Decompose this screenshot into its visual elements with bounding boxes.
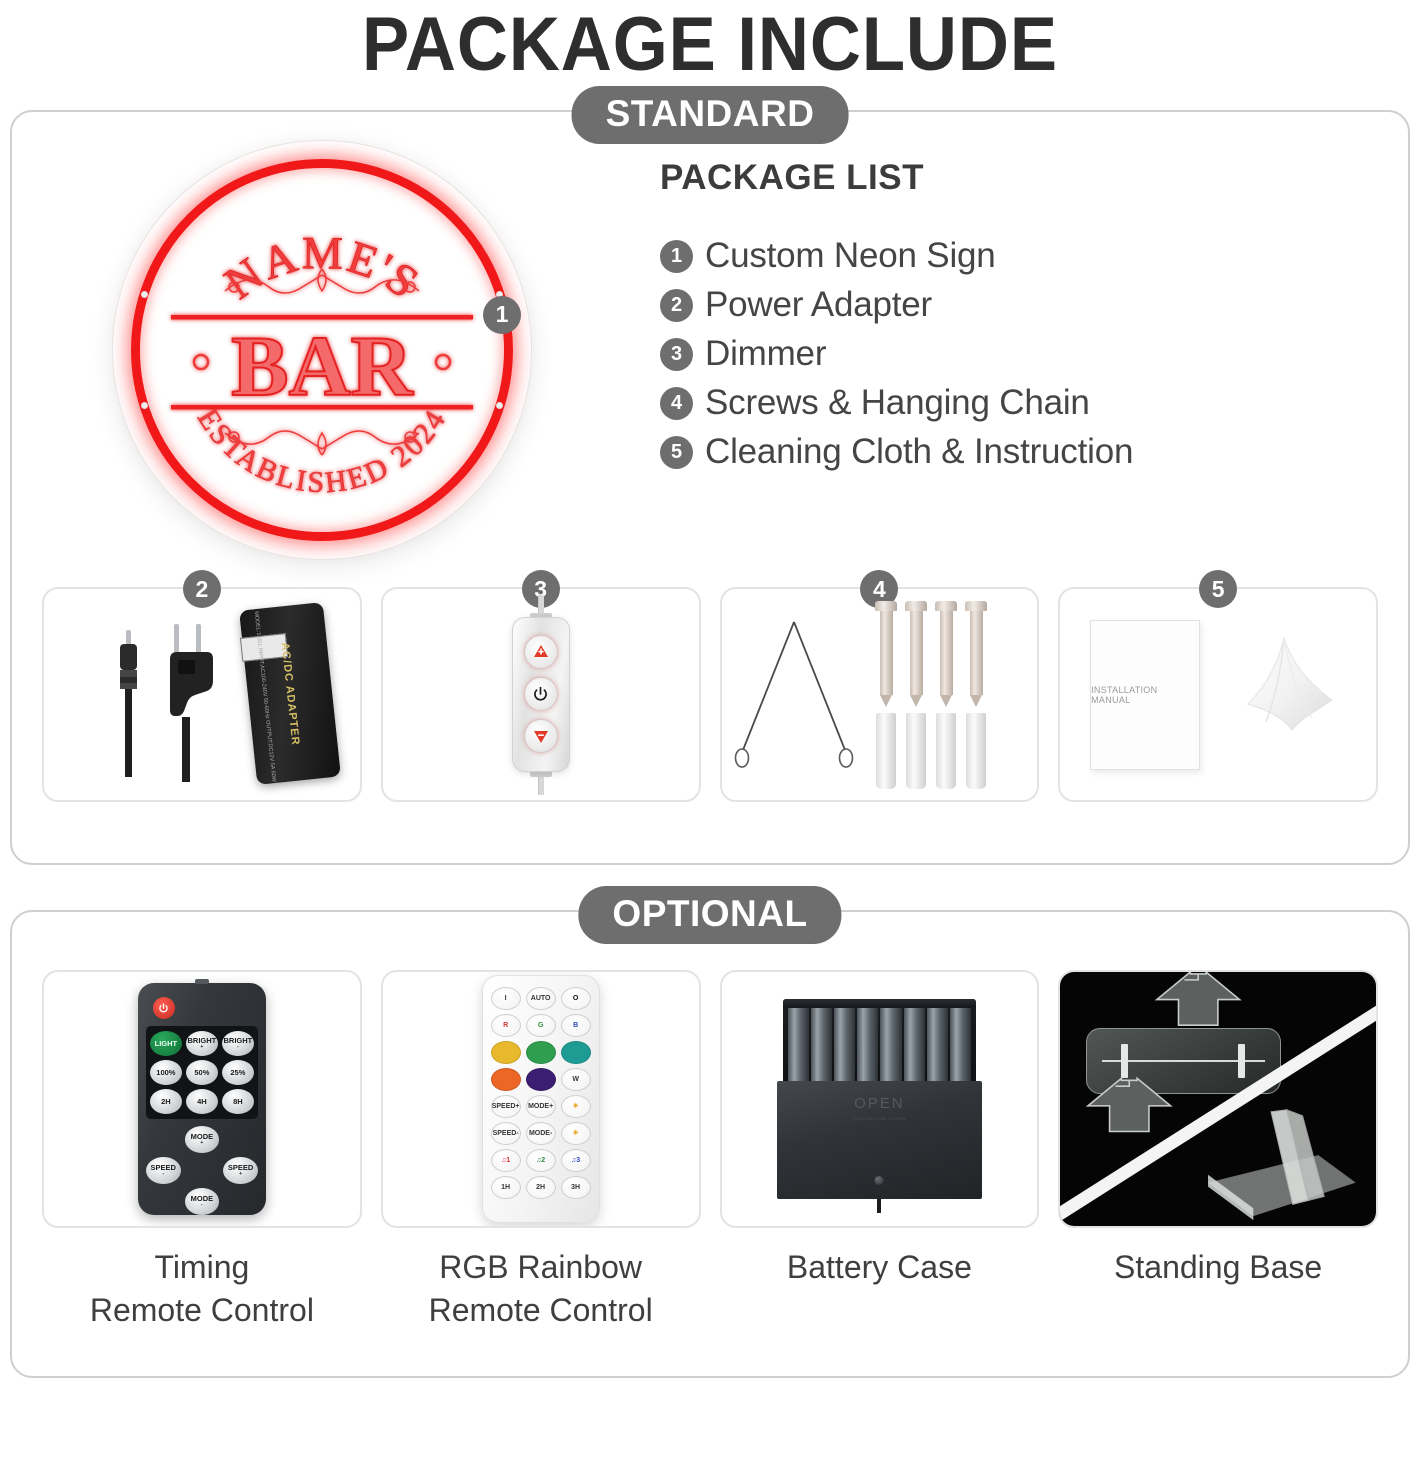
power-adapter-card: 2 bbox=[42, 587, 362, 802]
list-item: 2 Power Adapter bbox=[660, 285, 1408, 325]
power-button bbox=[524, 677, 558, 711]
power-button-icon bbox=[153, 997, 175, 1019]
cover-screw bbox=[875, 1176, 884, 1185]
rgb-key-color9 bbox=[491, 1068, 521, 1091]
spacer bbox=[146, 1188, 181, 1215]
list-item: 5 Cleaning Cloth & Instruction bbox=[660, 432, 1408, 472]
rgb-key-speed: SPEED+ bbox=[491, 1095, 521, 1118]
rgb-key-color14: ☀ bbox=[561, 1095, 591, 1118]
rgb-remote-image: IAUTOORGBWSPEED+MODE+☀SPEED-MODE-☀♫1♫2♫3… bbox=[482, 975, 600, 1223]
open-text: OPEN bbox=[854, 1095, 905, 1112]
rgb-key-color17: ☀ bbox=[561, 1122, 591, 1145]
adapter-brick: AC/DC ADAPTER MODEL:1-201 INPUT:AC100-24… bbox=[239, 602, 341, 785]
battery-case-card: OPEN PUSH AND SLIDE TO OPEN bbox=[720, 970, 1040, 1228]
standing-base-image bbox=[1060, 972, 1376, 1226]
rgb-key-b: B bbox=[561, 1014, 591, 1037]
rgb-key-color8 bbox=[561, 1041, 591, 1064]
standing-base-card bbox=[1058, 970, 1378, 1228]
key-mode-up: MODE+ bbox=[185, 1126, 220, 1153]
neon-sign-artwork: NAME'S ESTABLISHED 2024 bbox=[113, 141, 531, 559]
key-25-percent: 25% bbox=[222, 1060, 254, 1085]
brightness-up-button bbox=[524, 635, 558, 669]
key-mode-down: MODE- bbox=[185, 1188, 220, 1215]
neon-sign: NAME'S ESTABLISHED 2024 bbox=[113, 141, 531, 559]
sign-number-badge: 1 bbox=[483, 296, 521, 334]
list-item: 3 Dimmer bbox=[660, 334, 1408, 374]
screw-and-anchor bbox=[905, 601, 927, 789]
base-arrows bbox=[1060, 972, 1376, 1226]
rgb-key-1h: 1H bbox=[491, 1176, 521, 1199]
battery-cover: OPEN PUSH AND SLIDE TO OPEN bbox=[777, 1081, 982, 1199]
ac-two-prong-plug-icon bbox=[160, 622, 218, 782]
list-item: 1 Custom Neon Sign bbox=[660, 236, 1408, 276]
key-timer-8h: 8H bbox=[222, 1089, 254, 1114]
rgb-key-i: I bbox=[491, 987, 521, 1010]
timing-remote-card: LIGHT BRIGHT+ BRIGHT- 100% 50% 25% 2H 4H… bbox=[42, 970, 362, 1228]
key-100-percent: 100% bbox=[150, 1060, 182, 1085]
rgb-key-speed: SPEED- bbox=[491, 1122, 521, 1145]
list-item-label: Dimmer bbox=[705, 334, 826, 374]
rgb-key-2: ♫2 bbox=[526, 1149, 556, 1172]
list-item: 4 Screws & Hanging Chain bbox=[660, 383, 1408, 423]
list-item-label: Screws & Hanging Chain bbox=[705, 383, 1090, 423]
screws-and-anchors bbox=[875, 601, 987, 789]
rgb-remote-cell: IAUTOORGBWSPEED+MODE+☀SPEED-MODE-☀♫1♫2♫3… bbox=[381, 970, 701, 1332]
package-list-title: PACKAGE LIST bbox=[660, 158, 1408, 198]
rgb-key-1: ♫1 bbox=[491, 1149, 521, 1172]
screws-and-chain-card: 4 bbox=[720, 587, 1040, 802]
key-speed-up: SPEED+ bbox=[223, 1157, 258, 1184]
key-bright-down: BRIGHT- bbox=[222, 1031, 254, 1056]
spacer bbox=[223, 1126, 258, 1153]
screw-and-anchor bbox=[935, 601, 957, 789]
timing-remote-image: LIGHT BRIGHT+ BRIGHT- 100% 50% 25% 2H 4H… bbox=[138, 983, 266, 1215]
key-light: LIGHT bbox=[150, 1031, 182, 1056]
timing-remote-cell: LIGHT BRIGHT+ BRIGHT- 100% 50% 25% 2H 4H… bbox=[42, 970, 362, 1332]
rgb-key-w: W bbox=[561, 1068, 591, 1091]
manual-and-cloth-image: INSTALLATION MANUAL bbox=[1068, 602, 1368, 787]
key-bright-up: BRIGHT+ bbox=[186, 1031, 218, 1056]
rgb-key-color10 bbox=[526, 1068, 556, 1091]
hardware-image bbox=[729, 602, 1029, 787]
rgb-key-3h: 3H bbox=[561, 1176, 591, 1199]
manual-title-text: INSTALLATION MANUAL bbox=[1091, 685, 1199, 705]
rgb-key-mode: MODE+ bbox=[526, 1095, 556, 1118]
optional-item-cards: LIGHT BRIGHT+ BRIGHT- 100% 50% 25% 2H 4H… bbox=[12, 912, 1408, 1332]
rgb-key-color6 bbox=[491, 1041, 521, 1064]
key-timer-4h: 4H bbox=[186, 1089, 218, 1114]
key-timer-2h: 2H bbox=[150, 1089, 182, 1114]
battery-case-label: Battery Case bbox=[720, 1246, 1040, 1289]
timing-remote-label: Timing Remote Control bbox=[42, 1246, 362, 1332]
manual-and-cloth-card: 5 INSTALLATION MANUAL bbox=[1058, 587, 1378, 802]
neon-sign-illustration: NAME'S ESTABLISHED 2024 bbox=[12, 112, 632, 587]
battery-output-wire bbox=[877, 1199, 881, 1213]
timing-remote-dpad: MODE+ SPEED- SPEED+ MODE- bbox=[146, 1126, 258, 1215]
svg-text:ESTABLISHED 2024: ESTABLISHED 2024 bbox=[191, 402, 453, 499]
battery-case-cell: OPEN PUSH AND SLIDE TO OPEN Battery Case bbox=[720, 970, 1040, 1332]
list-item-number: 1 bbox=[660, 240, 693, 273]
timing-remote-keypad: LIGHT BRIGHT+ BRIGHT- 100% 50% 25% 2H 4H… bbox=[146, 1026, 258, 1119]
rgb-key-mode: MODE- bbox=[526, 1122, 556, 1145]
optional-badge: OPTIONAL bbox=[578, 886, 841, 944]
standing-base-label: Standing Base bbox=[1058, 1246, 1378, 1289]
installation-manual: INSTALLATION MANUAL bbox=[1090, 620, 1200, 770]
brightness-down-button bbox=[524, 719, 558, 753]
standard-item-cards: 2 bbox=[12, 587, 1408, 802]
list-item-number: 5 bbox=[660, 436, 693, 469]
ir-emitter bbox=[195, 979, 209, 984]
dimmer-body bbox=[512, 617, 570, 772]
battery-rail bbox=[783, 999, 976, 1008]
cover-fine-print: PUSH AND SLIDE TO OPEN bbox=[853, 1116, 905, 1121]
list-item-number: 2 bbox=[660, 289, 693, 322]
list-item-number: 3 bbox=[660, 338, 693, 371]
optional-section: OPTIONAL LIGHT BRIGHT+ BRIGHT- 100% bbox=[10, 910, 1410, 1378]
screw-and-anchor bbox=[875, 601, 897, 789]
rgb-key-3: ♫3 bbox=[561, 1149, 591, 1172]
screw-and-anchor bbox=[965, 601, 987, 789]
package-include-infographic: PACKAGE INCLUDE STANDARD bbox=[0, 0, 1420, 1481]
rgb-key-color7 bbox=[526, 1041, 556, 1064]
key-50-percent: 50% bbox=[186, 1060, 218, 1085]
spacer bbox=[185, 1157, 220, 1184]
dc-barrel-plug-icon bbox=[106, 628, 152, 778]
package-list: PACKAGE LIST 1 Custom Neon Sign 2 Power … bbox=[632, 112, 1408, 587]
dimmer-image bbox=[471, 595, 611, 795]
rgb-key-auto: AUTO bbox=[526, 987, 556, 1010]
list-item-label: Custom Neon Sign bbox=[705, 236, 996, 276]
dimmer-card: 3 bbox=[381, 587, 701, 802]
cleaning-cloth-icon bbox=[1226, 630, 1346, 760]
hanging-chain-icon bbox=[729, 610, 859, 780]
standing-base-cell: Standing Base bbox=[1058, 970, 1378, 1332]
battery-case-image: OPEN PUSH AND SLIDE TO OPEN bbox=[777, 993, 982, 1205]
standard-section: STANDARD bbox=[10, 110, 1410, 865]
list-item-label: Power Adapter bbox=[705, 285, 932, 325]
rgb-remote-card: IAUTOORGBWSPEED+MODE+☀SPEED-MODE-☀♫1♫2♫3… bbox=[381, 970, 701, 1228]
svg-text:BAR: BAR bbox=[231, 318, 413, 414]
list-item-number: 4 bbox=[660, 387, 693, 420]
rgb-remote-label: RGB Rainbow Remote Control bbox=[381, 1246, 701, 1332]
page-title: PACKAGE INCLUDE bbox=[50, 0, 1371, 88]
rgb-key-2h: 2H bbox=[526, 1176, 556, 1199]
rgb-key-r: R bbox=[491, 1014, 521, 1037]
key-speed-down: SPEED- bbox=[146, 1157, 181, 1184]
power-adapter-image: AC/DC ADAPTER MODEL:1-201 INPUT:AC100-24… bbox=[52, 600, 352, 790]
svg-text:NAME'S: NAME'S bbox=[215, 227, 429, 309]
adapter-label-text: AC/DC ADAPTER bbox=[278, 641, 301, 745]
spacer bbox=[223, 1188, 258, 1215]
spacer bbox=[146, 1126, 181, 1153]
list-item-label: Cleaning Cloth & Instruction bbox=[705, 432, 1133, 472]
rgb-key-o: O bbox=[561, 987, 591, 1010]
rgb-key-g: G bbox=[526, 1014, 556, 1037]
